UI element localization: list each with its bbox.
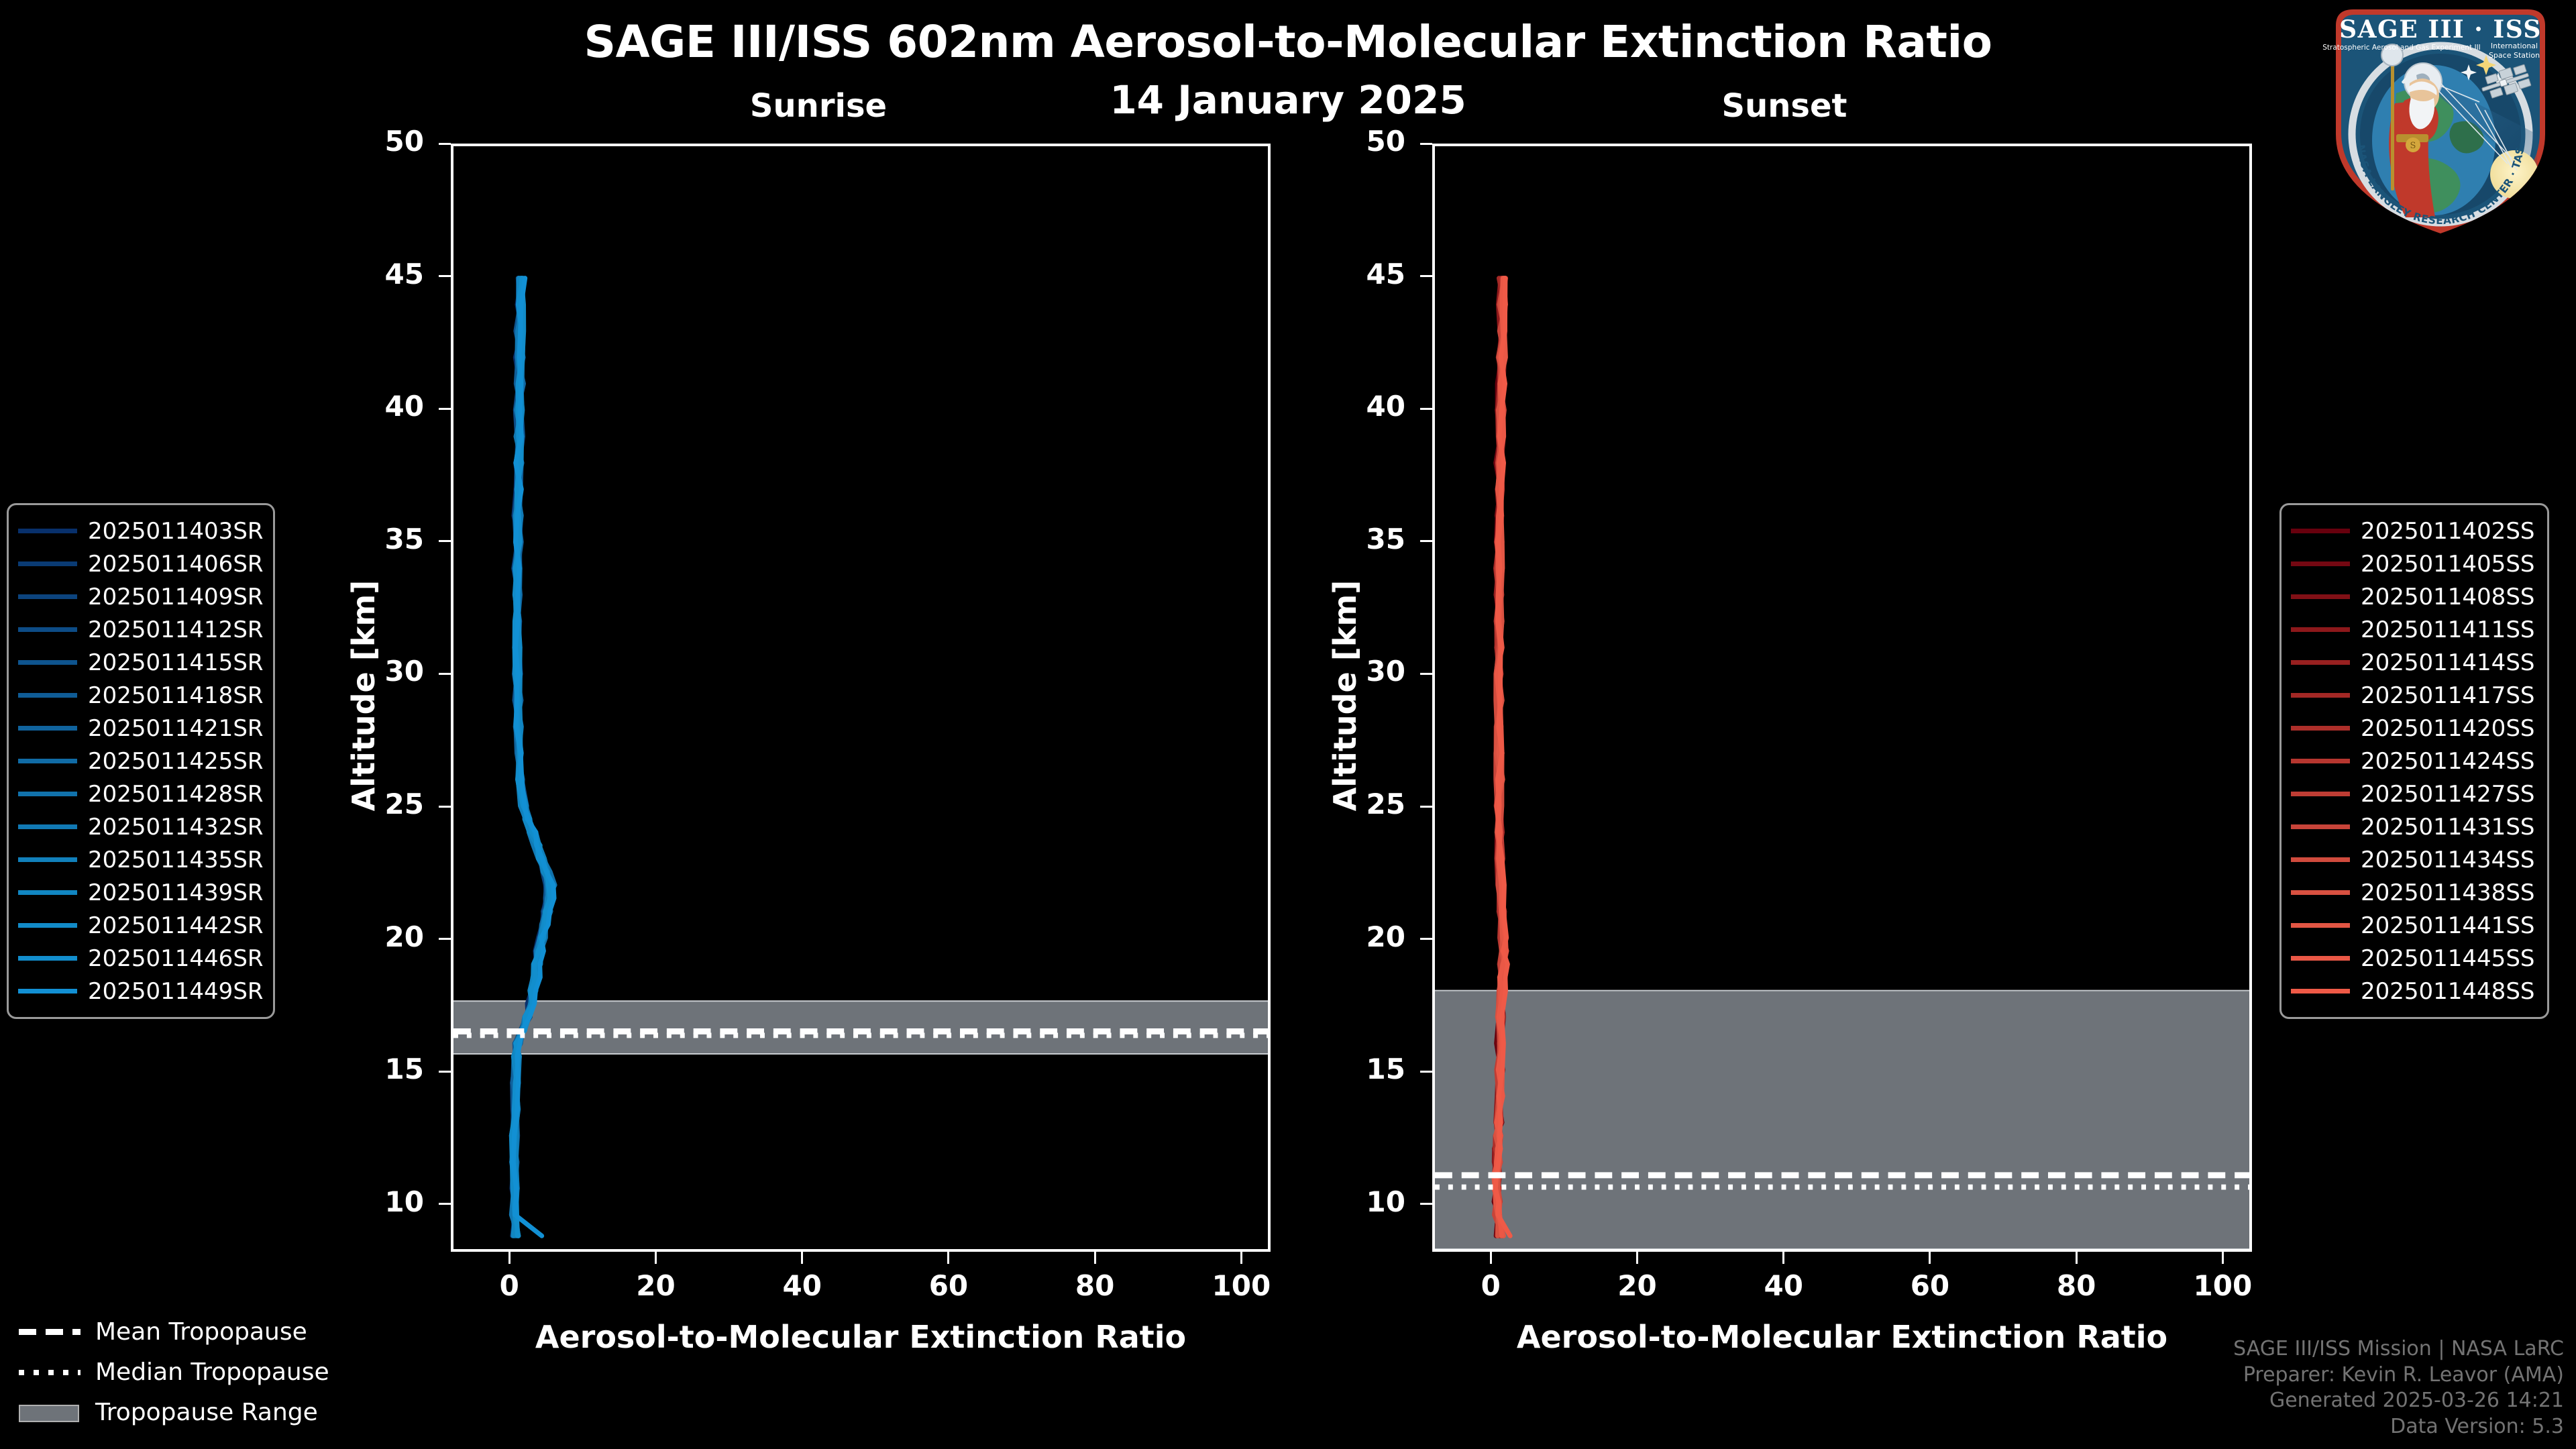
legend-item-label: 2025011418SR — [88, 682, 264, 709]
y-axis-tick — [1420, 938, 1432, 940]
legend-item[interactable]: 2025011414SS — [2291, 646, 2536, 679]
y-axis-tick — [1420, 143, 1432, 145]
tropopause-legend-label: Median Tropopause — [95, 1358, 329, 1386]
legend-item-label: 2025011406SR — [88, 551, 264, 578]
legend-color-swatch — [18, 989, 77, 994]
legend-color-swatch — [2291, 857, 2350, 862]
plot-panel-sunset — [1432, 144, 2252, 1252]
legend-item[interactable]: 2025011412SR — [18, 613, 262, 646]
y-axis-tick — [439, 673, 451, 675]
credits-line: Preparer: Kevin R. Leavor (AMA) — [2233, 1362, 2564, 1388]
x-axis-tick — [1929, 1252, 1931, 1264]
legend-item[interactable]: 2025011438SS — [2291, 876, 2536, 909]
legend-color-swatch — [2291, 824, 2350, 829]
legend-item-label: 2025011403SR — [88, 518, 264, 545]
legend-color-swatch — [18, 792, 77, 796]
legend-item[interactable]: 2025011408SS — [2291, 580, 2536, 613]
svg-text:International: International — [2491, 42, 2538, 50]
title-block: SAGE III/ISS 602nm Aerosol-to-Molecular … — [0, 0, 2576, 123]
legend-item-label: 2025011415SR — [88, 649, 264, 676]
legend-color-swatch — [18, 759, 77, 763]
legend-color-swatch — [18, 824, 77, 829]
dashed-line-key — [19, 1324, 80, 1339]
credits-block: SAGE III/ISS Mission | NASA LaRCPreparer… — [2233, 1336, 2564, 1440]
legend-item[interactable]: 2025011439SR — [18, 876, 262, 909]
x-axis-tick-label: 40 — [1737, 1269, 1831, 1302]
credits-line: SAGE III/ISS Mission | NASA LaRC — [2233, 1336, 2564, 1362]
legend-color-swatch — [2291, 627, 2350, 632]
x-axis-tick-label: 0 — [1444, 1269, 1538, 1302]
legend-item-label: 2025011417SS — [2361, 682, 2534, 709]
legend-item-label: 2025011420SS — [2361, 715, 2534, 742]
y-axis-tick-label: 50 — [1325, 125, 1405, 158]
x-axis-title: Aerosol-to-Molecular Extinction Ratio — [458, 1319, 1263, 1355]
legend-item[interactable]: 2025011441SS — [2291, 909, 2536, 942]
x-axis-tick — [1782, 1252, 1784, 1264]
legend-item[interactable]: 2025011415SR — [18, 646, 262, 679]
tropopause-legend-item[interactable]: Tropopause Range — [19, 1392, 368, 1432]
x-axis-tick — [947, 1252, 949, 1264]
legend-item-label: 2025011409SR — [88, 584, 264, 610]
x-axis-tick-label: 20 — [609, 1269, 703, 1302]
legend-item-label: 2025011412SR — [88, 616, 264, 643]
legend-color-swatch — [2291, 561, 2350, 566]
x-axis-tick — [2222, 1252, 2224, 1264]
legend-item[interactable]: 2025011424SS — [2291, 745, 2536, 777]
legend-color-swatch — [18, 956, 77, 961]
x-axis-tick — [801, 1252, 803, 1264]
x-axis-tick — [1490, 1252, 1492, 1264]
legend-item-label: 2025011446SR — [88, 945, 264, 972]
panel-title-sunrise: Sunrise — [684, 87, 953, 125]
y-axis-tick — [439, 938, 451, 940]
legend-item[interactable]: 2025011434SS — [2291, 843, 2536, 876]
y-axis-tick-label: 45 — [343, 258, 424, 290]
legend-color-swatch — [2291, 792, 2350, 796]
x-axis-tick-label: 60 — [1883, 1269, 1977, 1302]
tropopause-range-band — [453, 1001, 1268, 1054]
y-axis-tick — [439, 408, 451, 410]
legend-item-label: 2025011445SS — [2361, 945, 2534, 972]
legend-item[interactable]: 2025011448SS — [2291, 975, 2536, 1008]
legend-item[interactable]: 2025011403SR — [18, 515, 262, 547]
y-axis-title: Altitude [km] — [345, 494, 382, 897]
legend-color-swatch — [2291, 890, 2350, 895]
y-axis-tick — [1420, 806, 1432, 808]
tropopause-legend-label: Tropopause Range — [95, 1399, 318, 1426]
legend-item[interactable]: 2025011409SR — [18, 580, 262, 613]
legend-color-swatch — [18, 857, 77, 862]
credits-line: Data Version: 5.3 — [2233, 1414, 2564, 1440]
x-axis-tick-label: 60 — [902, 1269, 996, 1302]
legend-item-label: 2025011435SR — [88, 847, 264, 873]
legend-item-label: 2025011432SR — [88, 814, 264, 841]
legend-item-label: 2025011421SR — [88, 715, 264, 742]
y-axis-tick — [439, 806, 451, 808]
legend-item[interactable]: 2025011431SS — [2291, 810, 2536, 843]
y-axis-tick-label: 15 — [343, 1053, 424, 1085]
y-axis-tick-label: 10 — [1325, 1185, 1405, 1218]
y-axis-tick — [1420, 1071, 1432, 1073]
legend-item[interactable]: 2025011411SS — [2291, 613, 2536, 646]
legend-item-label: 2025011408SS — [2361, 584, 2534, 610]
svg-text:SAGE III · ISS: SAGE III · ISS — [2339, 15, 2542, 44]
x-axis-tick — [1094, 1252, 1096, 1264]
dotted-line-key-glyph — [19, 1370, 80, 1375]
x-axis-tick-label: 80 — [2029, 1269, 2123, 1302]
legend-color-swatch — [2291, 989, 2350, 994]
legend-item[interactable]: 2025011420SS — [2291, 712, 2536, 745]
y-axis-tick-label: 40 — [1325, 390, 1405, 423]
legend-item-label: 2025011442SR — [88, 912, 264, 939]
legend-item-label: 2025011411SS — [2361, 616, 2534, 643]
y-axis-tick — [439, 143, 451, 145]
legend-item-label: 2025011439SR — [88, 879, 264, 906]
range-box-key-glyph — [19, 1405, 79, 1422]
legend-color-swatch — [2291, 529, 2350, 533]
legend-color-swatch — [2291, 759, 2350, 763]
x-axis-tick-label: 100 — [2176, 1269, 2269, 1302]
legend-item-label: 2025011424SS — [2361, 748, 2534, 775]
credits-line: Generated 2025-03-26 14:21 — [2233, 1388, 2564, 1413]
legend-item-label: 2025011402SS — [2361, 518, 2534, 545]
legend-item[interactable]: 2025011435SR — [18, 843, 262, 876]
legend-item[interactable]: 2025011405SS — [2291, 547, 2536, 580]
x-axis-tick — [1636, 1252, 1638, 1264]
legend-item-label: 2025011414SS — [2361, 649, 2534, 676]
legend-item-label: 2025011434SS — [2361, 847, 2534, 873]
legend-item-label: 2025011405SS — [2361, 551, 2534, 578]
legend-item[interactable]: 2025011402SS — [2291, 515, 2536, 547]
y-axis-tick — [1420, 540, 1432, 542]
panel-title-sunset: Sunset — [1650, 87, 1919, 125]
legend-item[interactable]: 2025011432SR — [18, 810, 262, 843]
tropopause-legend-label: Mean Tropopause — [95, 1318, 307, 1346]
legend-item[interactable]: 2025011449SR — [18, 975, 262, 1008]
x-axis-tick — [2076, 1252, 2078, 1264]
x-axis-tick-label: 100 — [1194, 1269, 1288, 1302]
legend-item-label: 2025011441SS — [2361, 912, 2534, 939]
tropopause-legend-item[interactable]: Mean Tropopause — [19, 1311, 368, 1352]
x-axis-title: Aerosol-to-Molecular Extinction Ratio — [1440, 1319, 2245, 1355]
y-axis-tick-label: 15 — [1325, 1053, 1405, 1085]
svg-text:Space Station: Space Station — [2489, 51, 2540, 60]
legend-color-swatch — [2291, 693, 2350, 698]
y-axis-tick — [1420, 673, 1432, 675]
legend-item-label: 2025011431SS — [2361, 814, 2534, 841]
y-axis-tick — [439, 1071, 451, 1073]
legend-color-swatch — [18, 660, 77, 665]
legend-item[interactable]: 2025011445SS — [2291, 942, 2536, 975]
legend-item-label: 2025011438SS — [2361, 879, 2534, 906]
legend-item[interactable]: 2025011446SR — [18, 942, 262, 975]
legend-color-swatch — [18, 561, 77, 566]
x-axis-tick — [655, 1252, 657, 1264]
svg-text:S: S — [2410, 141, 2416, 151]
y-axis-tick — [439, 1203, 451, 1205]
legend-item-label: 2025011448SS — [2361, 978, 2534, 1005]
legend-item[interactable]: 2025011421SR — [18, 712, 262, 745]
tropopause-legend-item[interactable]: Median Tropopause — [19, 1352, 368, 1392]
legend-color-swatch — [18, 890, 77, 895]
tropopause-range-band — [1435, 991, 2249, 1249]
legend-item[interactable]: 2025011428SR — [18, 777, 262, 810]
legend-tropopause: Mean TropopauseMedian TropopauseTropopau… — [19, 1311, 368, 1432]
legend-color-swatch — [18, 693, 77, 698]
plot-panel-sunrise — [451, 144, 1271, 1252]
legend-item[interactable]: 2025011418SR — [18, 679, 262, 712]
legend-color-swatch — [2291, 956, 2350, 961]
page-subtitle: 14 January 2025 — [0, 77, 2576, 123]
y-axis-title: Altitude [km] — [1327, 494, 1363, 897]
legend-sunrise: 2025011403SR2025011406SR2025011409SR2025… — [7, 503, 275, 1019]
legend-color-swatch — [18, 923, 77, 928]
mission-patch-icon: S SAGE III · ISS Stratospheric Aerosol a… — [2316, 3, 2565, 239]
y-axis-tick — [1420, 275, 1432, 277]
x-axis-tick-label: 0 — [462, 1269, 556, 1302]
legend-item-label: 2025011425SR — [88, 748, 264, 775]
legend-item[interactable]: 2025011406SR — [18, 547, 262, 580]
legend-sunset: 2025011402SS2025011405SS2025011408SS2025… — [2279, 503, 2549, 1019]
legend-color-swatch — [2291, 726, 2350, 731]
legend-color-swatch — [18, 627, 77, 632]
x-axis-tick — [508, 1252, 511, 1264]
legend-color-swatch — [18, 594, 77, 599]
svg-text:Stratospheric Aerosol and Gas: Stratospheric Aerosol and Gas Experiment… — [2322, 44, 2481, 52]
y-axis-tick-label: 50 — [343, 125, 424, 158]
legend-item-label: 2025011428SR — [88, 781, 264, 808]
dotted-line-key — [19, 1364, 80, 1379]
legend-item[interactable]: 2025011442SR — [18, 909, 262, 942]
legend-item[interactable]: 2025011425SR — [18, 745, 262, 777]
profile-line — [513, 278, 554, 1236]
y-axis-tick-label: 20 — [1325, 920, 1405, 953]
x-axis-tick-label: 80 — [1048, 1269, 1142, 1302]
legend-item-label: 2025011427SS — [2361, 781, 2534, 808]
dashed-line-key-glyph — [19, 1329, 80, 1335]
y-axis-tick — [1420, 1203, 1432, 1205]
y-axis-tick-label: 45 — [1325, 258, 1405, 290]
legend-color-swatch — [18, 529, 77, 533]
legend-color-swatch — [18, 726, 77, 731]
y-axis-tick — [439, 540, 451, 542]
y-axis-tick-label: 20 — [343, 920, 424, 953]
y-axis-tick-label: 40 — [343, 390, 424, 423]
legend-color-swatch — [2291, 660, 2350, 665]
legend-item[interactable]: 2025011417SS — [2291, 679, 2536, 712]
range-box-key — [19, 1405, 80, 1419]
y-axis-tick — [1420, 408, 1432, 410]
plot-canvas-sunrise — [453, 146, 1268, 1249]
y-axis-tick-label: 10 — [343, 1185, 424, 1218]
legend-color-swatch — [2291, 923, 2350, 928]
x-axis-tick-label: 20 — [1591, 1269, 1684, 1302]
x-axis-tick — [1240, 1252, 1242, 1264]
x-axis-tick-label: 40 — [755, 1269, 849, 1302]
legend-item-label: 2025011449SR — [88, 978, 264, 1005]
page-title: SAGE III/ISS 602nm Aerosol-to-Molecular … — [0, 16, 2576, 68]
legend-item[interactable]: 2025011427SS — [2291, 777, 2536, 810]
legend-color-swatch — [2291, 594, 2350, 599]
plot-canvas-sunset — [1435, 146, 2249, 1249]
y-axis-tick — [439, 275, 451, 277]
sage-iii-iss-mission-patch-logo: S SAGE III · ISS Stratospheric Aerosol a… — [2316, 3, 2565, 239]
